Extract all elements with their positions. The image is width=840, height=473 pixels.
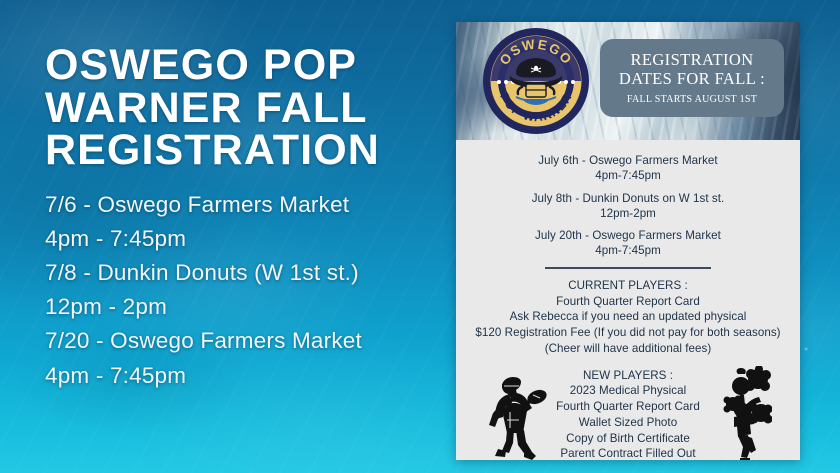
section-divider [545, 267, 711, 269]
date-time: 12pm-2pm [468, 206, 788, 221]
list-item: 4pm - 7:45pm [45, 222, 445, 256]
list-item: Parent Contract Filled Out [468, 446, 788, 460]
list-item: Wallet Sized Photo [468, 415, 788, 431]
left-schedule-list: 7/6 - Oswego Farmers Market 4pm - 7:45pm… [45, 188, 445, 393]
date-entry: July 20th - Oswego Farmers Market 4pm-7:… [468, 228, 788, 259]
dates-list: July 6th - Oswego Farmers Market 4pm-7:4… [468, 153, 788, 259]
list-item: Copy of Birth Certificate [468, 431, 788, 447]
list-item: 2023 Medical Physical [468, 383, 788, 399]
date-time: 4pm-7:45pm [468, 168, 788, 183]
list-item: Fourth Quarter Report Card [468, 294, 788, 310]
date-place: July 8th - Dunkin Donuts on W 1st st. [468, 191, 788, 206]
slide-canvas: OSWEGO POP WARNER FALL REGISTRATION 7/6 … [0, 0, 840, 473]
flyer-body: July 6th - Oswego Farmers Market 4pm-7:4… [456, 140, 800, 460]
list-item: Fourth Quarter Report Card [468, 399, 788, 415]
list-item: $120 Registration Fee (If you did not pa… [468, 325, 788, 341]
date-entry: July 8th - Dunkin Donuts on W 1st st. 12… [468, 191, 788, 222]
registration-flyer: OSWEGO POP WARNER [456, 22, 800, 460]
page-title: OSWEGO POP WARNER FALL REGISTRATION [45, 44, 445, 172]
oswego-pop-warner-logo-icon: OSWEGO POP WARNER [482, 27, 590, 135]
badge-subtitle: FALL STARTS AUGUST 1ST [627, 94, 757, 105]
list-item: 4pm - 7:45pm [45, 359, 445, 393]
list-item: Ask Rebecca if you need an updated physi… [468, 309, 788, 325]
list-item: 7/20 - Oswego Farmers Market [45, 324, 445, 358]
list-item: 12pm - 2pm [45, 290, 445, 324]
new-players-text: NEW PLAYERS : 2023 Medical Physical Four… [468, 368, 788, 460]
current-players-section: CURRENT PLAYERS : Fourth Quarter Report … [468, 278, 788, 357]
registration-dates-badge: REGISTRATION DATES FOR FALL : FALL START… [600, 39, 784, 117]
left-text-block: OSWEGO POP WARNER FALL REGISTRATION 7/6 … [45, 44, 445, 393]
flyer-header-photo: OSWEGO POP WARNER [456, 22, 800, 140]
list-item: 7/6 - Oswego Farmers Market [45, 188, 445, 222]
badge-title: REGISTRATION DATES FOR FALL : [619, 51, 765, 88]
new-players-section: NEW PLAYERS : 2023 Medical Physical Four… [468, 368, 788, 460]
date-place: July 6th - Oswego Farmers Market [468, 153, 788, 168]
section-title: NEW PLAYERS : [468, 368, 788, 384]
date-time: 4pm-7:45pm [468, 243, 788, 258]
list-item: (Cheer will have additional fees) [468, 341, 788, 357]
list-item: 7/8 - Dunkin Donuts (W 1st st.) [45, 256, 445, 290]
date-entry: July 6th - Oswego Farmers Market 4pm-7:4… [468, 153, 788, 184]
date-place: July 20th - Oswego Farmers Market [468, 228, 788, 243]
section-title: CURRENT PLAYERS : [468, 278, 788, 294]
